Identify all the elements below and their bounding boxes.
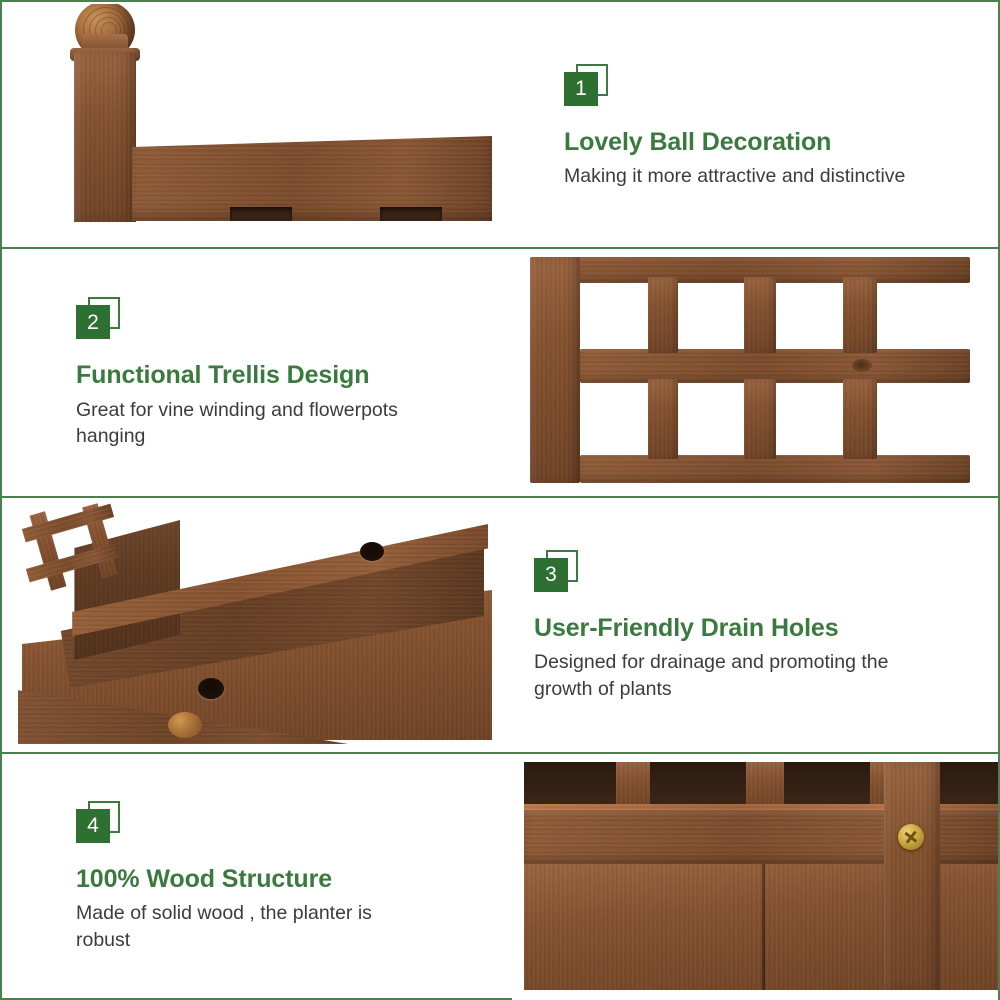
feature-text-3: 3 User-Friendly Drain Holes Designed for…	[502, 498, 998, 754]
top-slat	[746, 762, 784, 808]
feature-heading: Lovely Ball Decoration	[564, 128, 962, 158]
plank-gap-left	[230, 207, 292, 221]
board-seam	[762, 864, 765, 990]
badge-solid-square: 1	[564, 72, 598, 106]
feature-infographic: 1 Lovely Ball Decoration Making it more …	[0, 0, 1000, 1000]
feature-text-4: 4 100% Wood Structure Made of solid wood…	[2, 754, 512, 1000]
trellis-illustration	[502, 249, 998, 498]
drain-hole-upper	[360, 542, 384, 561]
trellis-slat	[744, 277, 776, 353]
feature-row-1: 1 Lovely Ball Decoration Making it more …	[2, 4, 998, 249]
feature-image-2	[502, 249, 998, 498]
feature-image-4	[512, 754, 998, 1000]
feature-text-1: 1 Lovely Ball Decoration Making it more …	[532, 4, 998, 249]
trellis-middle-rail	[580, 349, 970, 383]
vertical-post	[74, 52, 136, 222]
planter-interior-illustration	[2, 498, 502, 754]
brass-screw-icon	[898, 824, 924, 850]
feature-image-1	[2, 4, 532, 249]
badge-solid-square: 4	[76, 809, 110, 843]
trellis-slat	[744, 379, 776, 459]
wood-knot	[852, 359, 872, 372]
badge-1: 1	[564, 64, 616, 110]
ball-finial-illustration	[2, 4, 532, 249]
badge-solid-square: 2	[76, 305, 110, 339]
trellis-slat	[648, 277, 678, 353]
plank-gap-right	[380, 207, 442, 221]
badge-2: 2	[76, 297, 128, 343]
trellis-bottom-rail	[580, 455, 970, 483]
feature-text-2: 2 Functional Trellis Design Great for vi…	[2, 249, 502, 498]
ball-knob-fragment	[168, 712, 202, 738]
badge-number: 4	[87, 815, 99, 836]
trellis-slat	[843, 379, 877, 459]
feature-description: Great for vine winding and flowerpots ha…	[76, 397, 466, 450]
badge-solid-square: 3	[534, 558, 568, 592]
feature-heading: 100% Wood Structure	[76, 865, 482, 895]
feature-heading: User-Friendly Drain Holes	[534, 614, 968, 644]
badge-4: 4	[76, 801, 128, 847]
right-vertical-post	[884, 762, 940, 990]
trellis-slat	[843, 277, 877, 353]
feature-heading: Functional Trellis Design	[76, 361, 472, 391]
feature-row-3: 3 User-Friendly Drain Holes Designed for…	[2, 498, 998, 754]
feature-row-4: 4 100% Wood Structure Made of solid wood…	[2, 754, 998, 1000]
drain-hole-lower	[198, 678, 224, 699]
badge-3: 3	[534, 550, 586, 596]
top-slat	[616, 762, 650, 808]
feature-image-3	[2, 498, 502, 754]
badge-number: 1	[575, 78, 587, 99]
feature-description: Designed for drainage and promoting the …	[534, 649, 914, 702]
badge-number: 2	[87, 312, 99, 333]
feature-description: Making it more attractive and distinctiv…	[564, 163, 962, 189]
badge-number: 3	[545, 564, 557, 585]
trellis-slat	[648, 379, 678, 459]
feature-description: Made of solid wood , the planter is robu…	[76, 900, 406, 953]
wood-structure-illustration	[512, 754, 998, 1000]
trellis-left-post	[530, 257, 580, 483]
planter-back-panel	[60, 520, 180, 660]
feature-row-2: 2 Functional Trellis Design Great for vi…	[2, 249, 998, 498]
